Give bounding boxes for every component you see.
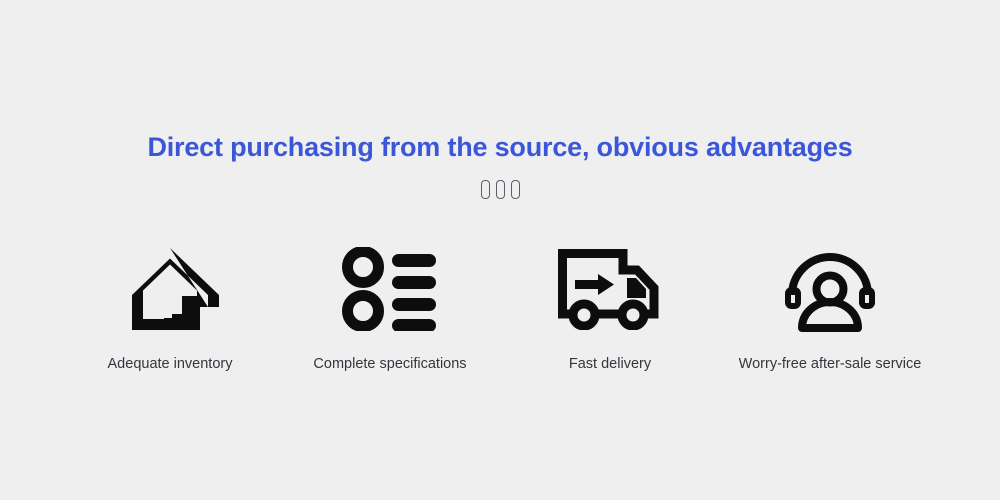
- feature-label-inventory: Adequate inventory: [108, 355, 233, 373]
- feature-item-service: Worry-free after-sale service: [720, 243, 940, 373]
- feature-item-specifications: Complete specifications: [280, 243, 500, 373]
- delivery-truck-icon: [557, 243, 663, 335]
- specification-list-icon: [342, 243, 438, 335]
- customer-service-headset-icon: [784, 243, 876, 335]
- feature-list: Adequate inventory Complete specificatio…: [60, 243, 940, 373]
- warehouse-icon: [120, 243, 220, 335]
- feature-item-inventory: Adequate inventory: [60, 243, 280, 373]
- feature-item-delivery: Fast delivery: [500, 243, 720, 373]
- feature-label-specifications: Complete specifications: [313, 355, 466, 373]
- page-title: Direct purchasing from the source, obvio…: [147, 130, 852, 164]
- heading-container: Direct purchasing from the source, obvio…: [0, 112, 1000, 182]
- feature-label-delivery: Fast delivery: [569, 355, 651, 373]
- feature-label-service: Worry-free after-sale service: [739, 355, 922, 373]
- divider-pill-2: [496, 180, 505, 199]
- three-pill-divider: [0, 180, 1000, 199]
- promo-banner: Direct purchasing from the source, obvio…: [0, 0, 1000, 500]
- divider-pill-1: [481, 180, 490, 199]
- divider-pill-3: [511, 180, 520, 199]
